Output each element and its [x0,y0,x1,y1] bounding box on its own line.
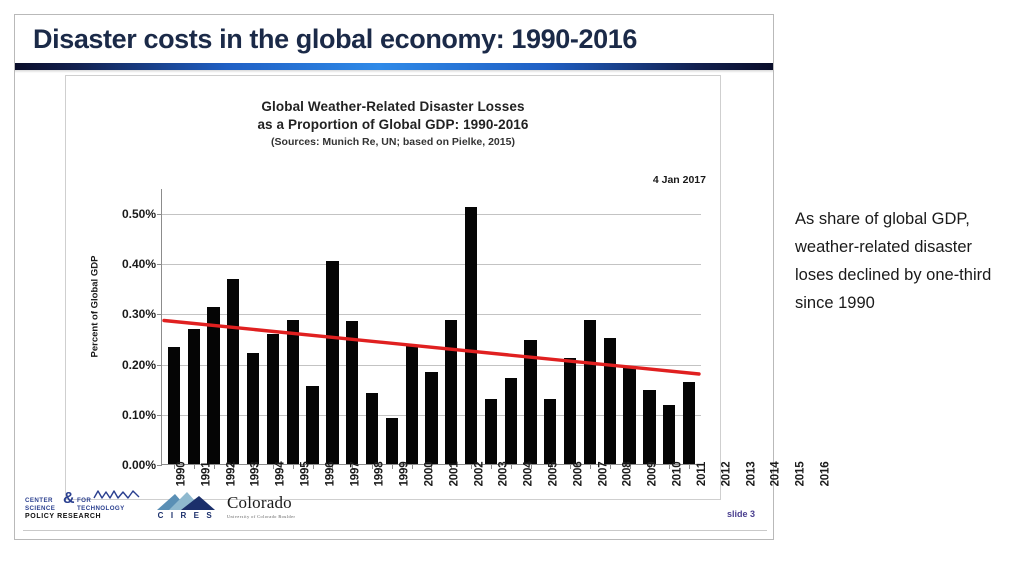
bar-series [162,189,701,464]
bar-slot [362,189,382,464]
bar-slot [600,189,620,464]
bar [386,418,398,464]
bar [227,279,239,464]
y-tick-label: 0.10% [94,408,156,422]
cires-wordmark: C I R E S [155,511,217,520]
bar-slot [461,189,481,464]
bar-slot [620,189,640,464]
bar-slot [441,189,461,464]
bar-slot [679,189,699,464]
bar [623,367,635,464]
bar-slot [521,189,541,464]
colorado-logo: Colorado University of Colorado Boulder [227,493,327,519]
bar [306,386,318,464]
bar [267,334,279,464]
cires-logo: C I R E S [155,491,217,523]
slide-number: slide 3 [727,509,755,519]
bar [366,393,378,464]
side-caption: As share of global GDP, weather-related … [795,205,1010,317]
bar [425,372,437,464]
bar-slot [580,189,600,464]
slide-footer: CENTER SCIENCE & FOR TECHNOLOGY POLICY R… [15,487,773,533]
y-tick-label: 0.30% [94,307,156,321]
header-accent-shadow [15,70,773,73]
bar [247,353,259,464]
bar [207,307,219,464]
bar-slot [204,189,224,464]
bar [326,261,338,464]
bar-slot [323,189,343,464]
cires-mountain-icon [155,491,217,511]
bar [584,320,596,464]
bar-slot [164,189,184,464]
bar-slot [263,189,283,464]
bar [287,320,299,464]
slide-canvas: Disaster costs in the global economy: 19… [0,0,1024,564]
bar-slot [501,189,521,464]
slide-header: Disaster costs in the global economy: 19… [15,15,773,63]
bar [564,358,576,464]
plot-area [161,189,701,465]
bar [683,382,695,464]
bar-slot [659,189,679,464]
x-tick-label: 2016 [819,462,875,487]
bar [524,340,536,464]
y-tick-label: 0.40% [94,257,156,271]
footer-divider [23,530,767,531]
bar [465,207,477,464]
bar-slot [243,189,263,464]
bar [544,399,556,464]
bar-slot [560,189,580,464]
bar-slot [184,189,204,464]
y-axis-tick-labels: 0.00%0.10%0.20%0.30%0.40%0.50% [94,76,156,501]
bar [406,345,418,464]
plot-wrapper: Percent of Global GDP 0.00%0.10%0.20%0.3… [66,76,722,501]
bar [505,378,517,464]
bar-slot [422,189,442,464]
bar [485,399,497,464]
bar-slot [283,189,303,464]
cstpr-logo: CENTER SCIENCE & FOR TECHNOLOGY POLICY R… [25,491,143,521]
cstpr-line-3: POLICY RESEARCH [25,513,101,522]
bar-slot [303,189,323,464]
slide-frame: Disaster costs in the global economy: 19… [14,14,774,540]
bar-slot [481,189,501,464]
bar-slot [402,189,422,464]
page-title: Disaster costs in the global economy: 19… [15,24,637,55]
bar-slot [342,189,362,464]
colorado-subtitle: University of Colorado Boulder [227,514,327,519]
cstpr-squiggle-icon [93,489,141,501]
bar-slot [540,189,560,464]
header-accent-bar [15,63,773,70]
bar [168,347,180,464]
colorado-wordmark: Colorado [227,493,327,513]
y-tick-label: 0.00% [94,458,156,472]
bar-slot [382,189,402,464]
bar-slot [223,189,243,464]
bar [346,321,358,464]
bar [445,320,457,464]
y-tick-mark [157,465,162,466]
bar [663,405,675,464]
bar [188,329,200,464]
y-tick-label: 0.50% [94,207,156,221]
bar [604,338,616,464]
cstpr-ampersand: & [63,495,75,504]
bar [643,390,655,464]
y-tick-label: 0.20% [94,358,156,372]
bar-slot [640,189,660,464]
chart-card: Global Weather-Related Disaster Losses a… [65,75,721,500]
